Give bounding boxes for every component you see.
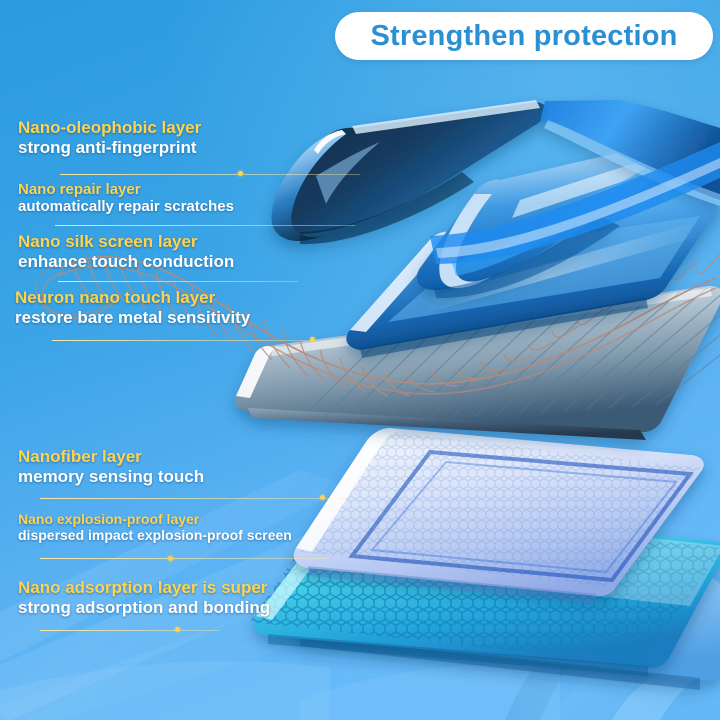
infographic-canvas: Strengthen protection Nano-oleophobic la… [0, 0, 720, 720]
layer-label-nano-explosion: Nano explosion-proof layerdispersed impa… [18, 511, 292, 543]
layer-label-nano-repair: Nano repair layerautomatically repair sc… [18, 181, 234, 215]
layer-subtext-nanofiber: memory sensing touch [18, 467, 204, 487]
layer-heading-nanofiber: Nanofiber layer [18, 447, 204, 467]
leader-oleophobic [60, 174, 360, 175]
layer-label-nano-silk-screen: Nano silk screen layerenhance touch cond… [18, 232, 234, 272]
layer-label-neuron-nano-touch: Neuron nano touch layerrestore bare meta… [15, 288, 250, 328]
layer-label-nanofiber: Nanofiber layermemory sensing touch [18, 447, 204, 487]
leader-silk [58, 281, 298, 282]
layer-label-nano-adsorption: Nano adsorption layer is superstrong ads… [18, 578, 270, 618]
title-banner: Strengthen protection [335, 12, 713, 60]
dot-oleophobic [238, 171, 243, 176]
layer-heading-nano-explosion: Nano explosion-proof layer [18, 511, 292, 527]
dot-adsorption [175, 627, 180, 632]
dot-neuron [310, 337, 315, 342]
layer-heading-nano-silk-screen: Nano silk screen layer [18, 232, 234, 252]
layer-subtext-nano-silk-screen: enhance touch conduction [18, 252, 234, 272]
layer-heading-nano-oleophobic: Nano-oleophobic layer [18, 118, 201, 138]
layer-subtext-neuron-nano-touch: restore bare metal sensitivity [15, 308, 250, 328]
layer-subtext-nano-explosion: dispersed impact explosion-proof screen [18, 527, 292, 543]
layer-heading-neuron-nano-touch: Neuron nano touch layer [15, 288, 250, 308]
layer-subtext-nano-oleophobic: strong anti-fingerprint [18, 138, 201, 158]
leader-neuron [52, 340, 307, 341]
leader-explosion [40, 558, 330, 559]
dot-nanofiber [320, 495, 325, 500]
page-title: Strengthen protection [370, 20, 677, 53]
layer-subtext-nano-adsorption: strong adsorption and bonding [18, 598, 270, 618]
layer-heading-nano-repair: Nano repair layer [18, 181, 234, 198]
leader-repair [55, 225, 355, 226]
layer-subtext-nano-repair: automatically repair scratches [18, 198, 234, 215]
leader-adsorption [40, 630, 220, 631]
layer-label-nano-oleophobic: Nano-oleophobic layerstrong anti-fingerp… [18, 118, 201, 158]
dot-explosion [168, 556, 173, 561]
layer-heading-nano-adsorption: Nano adsorption layer is super [18, 578, 270, 598]
leader-nanofiber [40, 498, 345, 499]
